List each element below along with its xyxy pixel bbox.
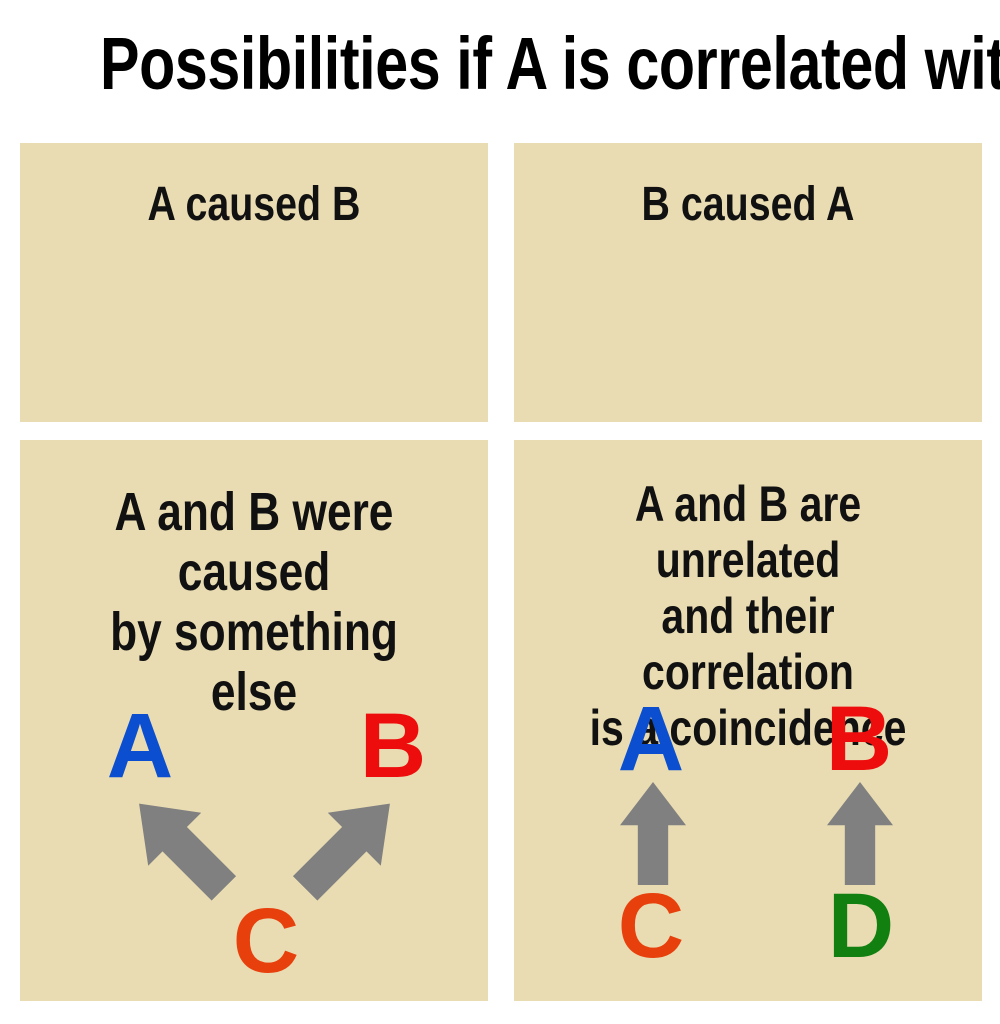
panel-heading-a-caused-b: A caused B [62, 179, 446, 231]
arrow-up-icon-c-to-a [620, 782, 686, 885]
node-letter-c: C [226, 895, 306, 987]
page-title: Possibilities if A is correlated with B [100, 22, 900, 106]
panel-b-caused-a: B caused A A B [514, 143, 982, 422]
node-letter-a: A [100, 700, 180, 792]
node-letter-b: B [353, 700, 433, 792]
panel-coincidence: A and B are unrelated and their correlat… [514, 440, 982, 1001]
panel-common-cause: A and B were caused by something else A … [20, 440, 488, 1001]
panel-heading-common-cause: A and B were caused by something else [62, 482, 446, 722]
node-letter-d: D [821, 880, 901, 972]
panel-a-caused-b: A caused B A B [20, 143, 488, 422]
panel-heading-b-caused-a: B caused A [556, 179, 940, 231]
arrow-up-icon-d-to-b [827, 782, 893, 885]
node-letter-a: A [611, 693, 691, 785]
node-letter-c: C [611, 880, 691, 972]
panel-grid: A caused B A B B caused A A B A and B we… [20, 143, 982, 1001]
node-letter-b: B [819, 693, 899, 785]
